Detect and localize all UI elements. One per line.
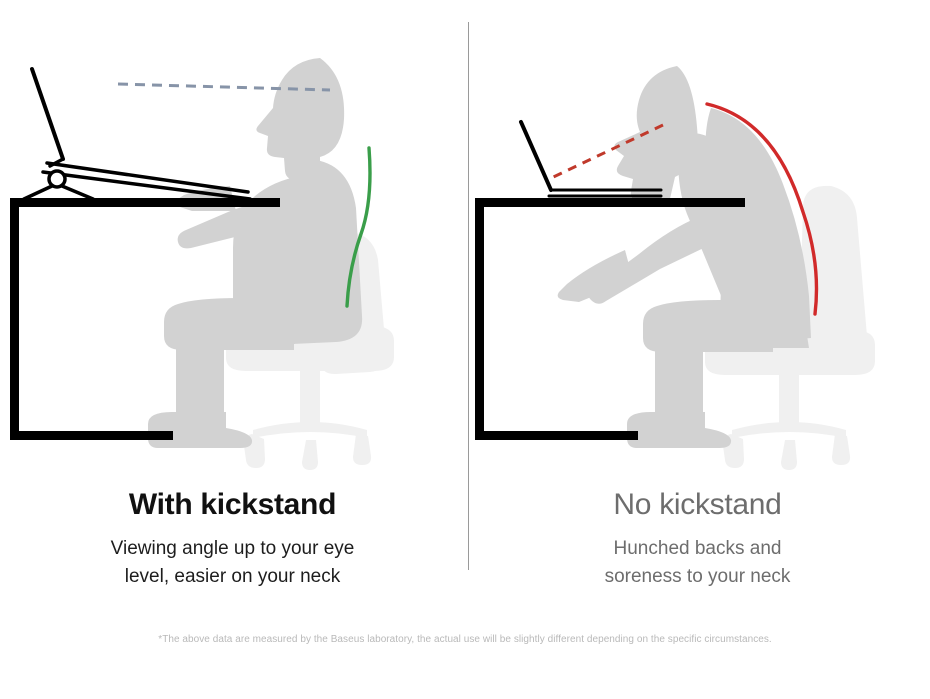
footnote-disclaimer: *The above data are measured by the Base…	[0, 633, 930, 647]
illustration-with-kickstand	[0, 0, 465, 470]
caption-sub-line-2: soreness to your neck	[503, 563, 892, 591]
laptop-on-kickstand	[24, 69, 250, 199]
illustration-no-kickstand	[465, 0, 930, 470]
caption-sub-line-1: Viewing angle up to your eye	[38, 535, 427, 563]
caption-sub-line-1: Hunched backs and	[503, 535, 892, 563]
caption-title-no-kickstand: No kickstand	[503, 488, 892, 522]
caption-row: With kickstand Viewing angle up to your …	[0, 488, 930, 608]
panel-with-kickstand	[0, 0, 465, 470]
caption-with-kickstand: With kickstand Viewing angle up to your …	[0, 488, 465, 608]
person-silhouette-upright	[148, 58, 362, 448]
person-silhouette-hunched	[558, 66, 811, 448]
caption-sub-with-kickstand: Viewing angle up to your eye level, easi…	[38, 535, 427, 591]
panel-no-kickstand	[465, 0, 930, 470]
caption-sub-line-2: level, easier on your neck	[38, 563, 427, 591]
caption-no-kickstand: No kickstand Hunched backs and soreness …	[465, 488, 930, 608]
infographic-page: With kickstand Viewing angle up to your …	[0, 0, 930, 699]
caption-sub-no-kickstand: Hunched backs and soreness to your neck	[503, 535, 892, 591]
caption-title-with-kickstand: With kickstand	[38, 488, 427, 522]
